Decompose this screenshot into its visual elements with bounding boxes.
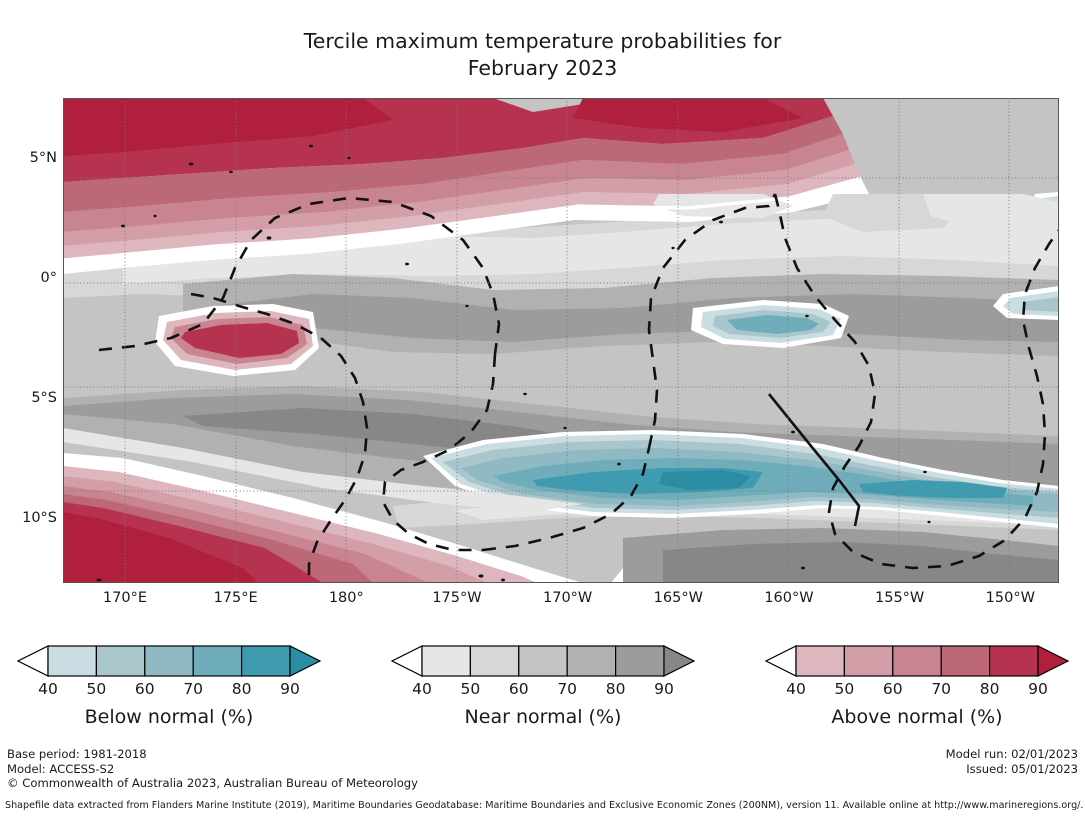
colorbar-cell bbox=[796, 646, 844, 676]
longitude-tick-label: 165°W bbox=[654, 590, 703, 606]
over-range-arrow bbox=[664, 646, 694, 676]
colorbar-near-normal: 405060708090Near normal (%) bbox=[378, 640, 708, 740]
colorbar-above-normal: 405060708090Above normal (%) bbox=[752, 640, 1082, 740]
colorbar-cell bbox=[470, 646, 518, 676]
longitude-tick-label: 170°E bbox=[103, 590, 147, 606]
colorbar-cell bbox=[422, 646, 470, 676]
colorbar-tick-label: 40 bbox=[786, 680, 806, 698]
colorbar-cell bbox=[941, 646, 989, 676]
colorbar-cell bbox=[145, 646, 193, 676]
colorbar-cell bbox=[242, 646, 290, 676]
colorbar-tick-label: 90 bbox=[654, 680, 674, 698]
colorbar-cell bbox=[193, 646, 241, 676]
under-range-arrow bbox=[392, 646, 422, 676]
latitude-tick-label: 5°N bbox=[30, 150, 57, 166]
colorbar-tick-label: 80 bbox=[980, 680, 1000, 698]
colorbar-cell bbox=[893, 646, 941, 676]
colorbar-cell bbox=[990, 646, 1038, 676]
colorbar-tick-label: 40 bbox=[38, 680, 58, 698]
colorbar-tick-label: 50 bbox=[835, 680, 855, 698]
longitude-tick-label: 155°W bbox=[875, 590, 924, 606]
latitude-tick-label: 10°S bbox=[22, 510, 57, 526]
longitude-tick-label: 160°W bbox=[764, 590, 813, 606]
footer-left-text: Base period: 1981-2018 Model: ACCESS-S2 … bbox=[7, 747, 418, 791]
colorbar-cell bbox=[96, 646, 144, 676]
forecast-map-page: Tercile maximum temperature probabilitie… bbox=[0, 0, 1085, 816]
latitude-axis: 5°N0°5°S10°S bbox=[0, 98, 57, 583]
colorbar-tick-label: 60 bbox=[883, 680, 903, 698]
colorbar-tick-label: 80 bbox=[606, 680, 626, 698]
colorbar-cell bbox=[48, 646, 96, 676]
footer-right-text: Model run: 02/01/2023 Issued: 05/01/2023 bbox=[946, 747, 1078, 776]
below-normal-tick-labels: 405060708090 bbox=[4, 680, 334, 700]
colorbar-tick-label: 50 bbox=[87, 680, 107, 698]
map-plot-area bbox=[63, 98, 1059, 583]
near-normal-tick-labels: 405060708090 bbox=[378, 680, 708, 700]
colorbar-tick-label: 70 bbox=[557, 680, 577, 698]
below-normal-title: Below normal (%) bbox=[4, 706, 334, 728]
colorbar-tick-label: 50 bbox=[461, 680, 481, 698]
latitude-tick-label: 5°S bbox=[31, 390, 57, 406]
colorbar-tick-label: 90 bbox=[1028, 680, 1048, 698]
colorbar-below-normal: 405060708090Below normal (%) bbox=[4, 640, 334, 740]
map-contour-fills bbox=[63, 98, 1059, 583]
colorbar-tick-label: 40 bbox=[412, 680, 432, 698]
colorbar-tick-label: 90 bbox=[280, 680, 300, 698]
longitude-tick-label: 150°W bbox=[986, 590, 1035, 606]
colorbar-cell bbox=[567, 646, 615, 676]
latitude-tick-label: 0° bbox=[41, 270, 57, 286]
tercile-probability-map bbox=[63, 98, 1059, 583]
footer-attribution-note: Shapefile data extracted from Flanders M… bbox=[5, 799, 1083, 814]
colorbar-cell bbox=[519, 646, 567, 676]
colorbar-tick-label: 70 bbox=[931, 680, 951, 698]
longitude-axis: 170°E175°E180°175°W170°W165°W160°W155°W1… bbox=[63, 590, 1059, 612]
colorbar-tick-label: 60 bbox=[509, 680, 529, 698]
colorbar-cell bbox=[844, 646, 892, 676]
above-normal-title: Above normal (%) bbox=[752, 706, 1082, 728]
colorbar-cell bbox=[616, 646, 664, 676]
colorbar-tick-label: 70 bbox=[183, 680, 203, 698]
colorbar-tick-label: 80 bbox=[232, 680, 252, 698]
longitude-tick-label: 180° bbox=[329, 590, 364, 606]
over-range-arrow bbox=[1038, 646, 1068, 676]
under-range-arrow bbox=[766, 646, 796, 676]
over-range-arrow bbox=[290, 646, 320, 676]
colorbar-tick-label: 60 bbox=[135, 680, 155, 698]
longitude-tick-label: 175°W bbox=[432, 590, 481, 606]
longitude-tick-label: 175°E bbox=[214, 590, 258, 606]
under-range-arrow bbox=[18, 646, 48, 676]
above-normal-tick-labels: 405060708090 bbox=[752, 680, 1082, 700]
page-title: Tercile maximum temperature probabilitie… bbox=[0, 28, 1085, 82]
near-normal-title: Near normal (%) bbox=[378, 706, 708, 728]
longitude-tick-label: 170°W bbox=[543, 590, 592, 606]
